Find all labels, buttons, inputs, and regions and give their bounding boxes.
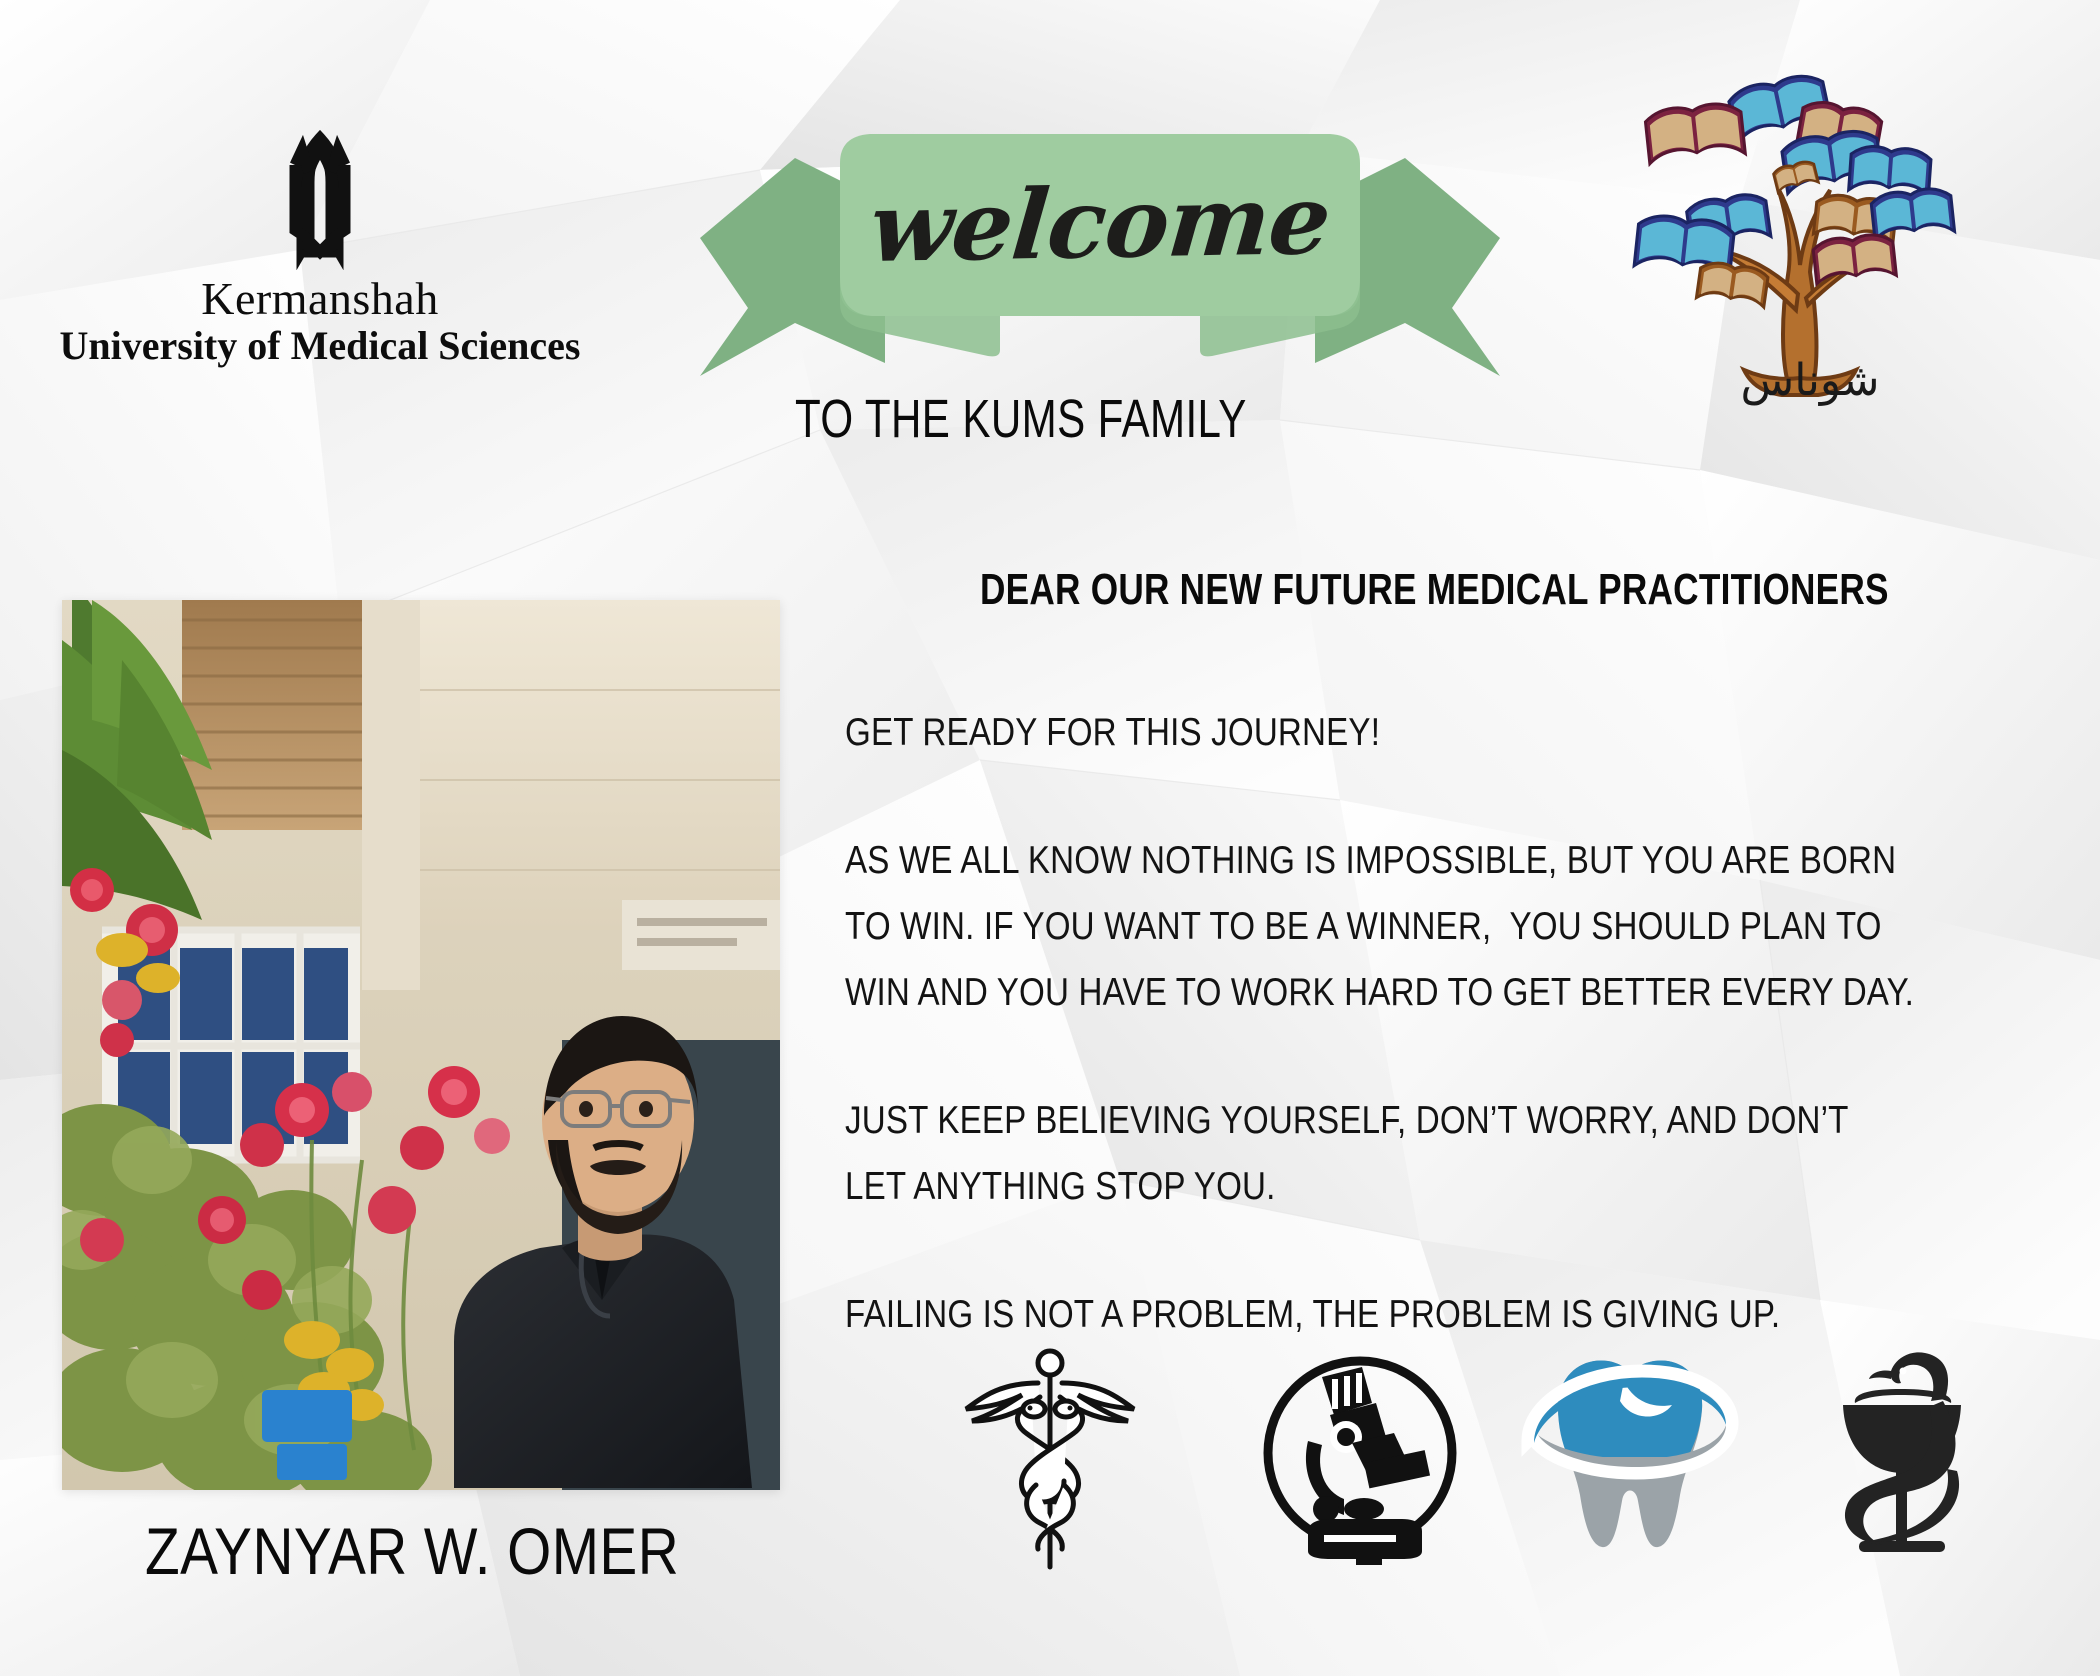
- welcome-ribbon: welcome: [700, 118, 1500, 378]
- message-body: GET READY FOR THIS JOURNEY! AS WE ALL KN…: [845, 700, 1916, 1348]
- microscope-icon: [1260, 1345, 1460, 1575]
- poster-subtitle: TO THE KUMS FAMILY: [795, 388, 1247, 450]
- salutation-line: DEAR OUR NEW FUTURE MEDICAL PRACTITIONER…: [980, 565, 1889, 615]
- faculty-icons-row: [960, 1345, 2020, 1585]
- message-paragraph: AS WE ALL KNOW NOTHING IS IMPOSSIBLE, BU…: [845, 828, 1916, 1026]
- message-paragraph: FAILING IS NOT A PROBLEM, THE PROBLEM IS…: [845, 1282, 1916, 1348]
- university-name-line-1: Kermanshah: [0, 274, 640, 324]
- org-script-name: شوناس: [1700, 355, 1920, 406]
- message-paragraph: GET READY FOR THIS JOURNEY!: [845, 700, 1916, 766]
- bowl-of-hygieia-icon: [1825, 1345, 2000, 1570]
- ribbon-shape: [700, 118, 1500, 378]
- caduceus-icon: [960, 1345, 1140, 1575]
- tooth-icon: [1520, 1345, 1740, 1560]
- university-logo-block: Kermanshah University of Medical Science…: [0, 120, 640, 368]
- tulip-emblem-icon: [265, 120, 375, 270]
- student-name: ZAYNYAR W. OMER: [145, 1513, 679, 1589]
- message-paragraph: JUST KEEP BELIEVING YOURSELF, DON’T WORR…: [845, 1088, 1916, 1220]
- student-photo: [62, 600, 780, 1490]
- welcome-poster: Kermanshah University of Medical Science…: [0, 0, 2100, 1676]
- university-name-line-2: University of Medical Sciences: [0, 324, 640, 369]
